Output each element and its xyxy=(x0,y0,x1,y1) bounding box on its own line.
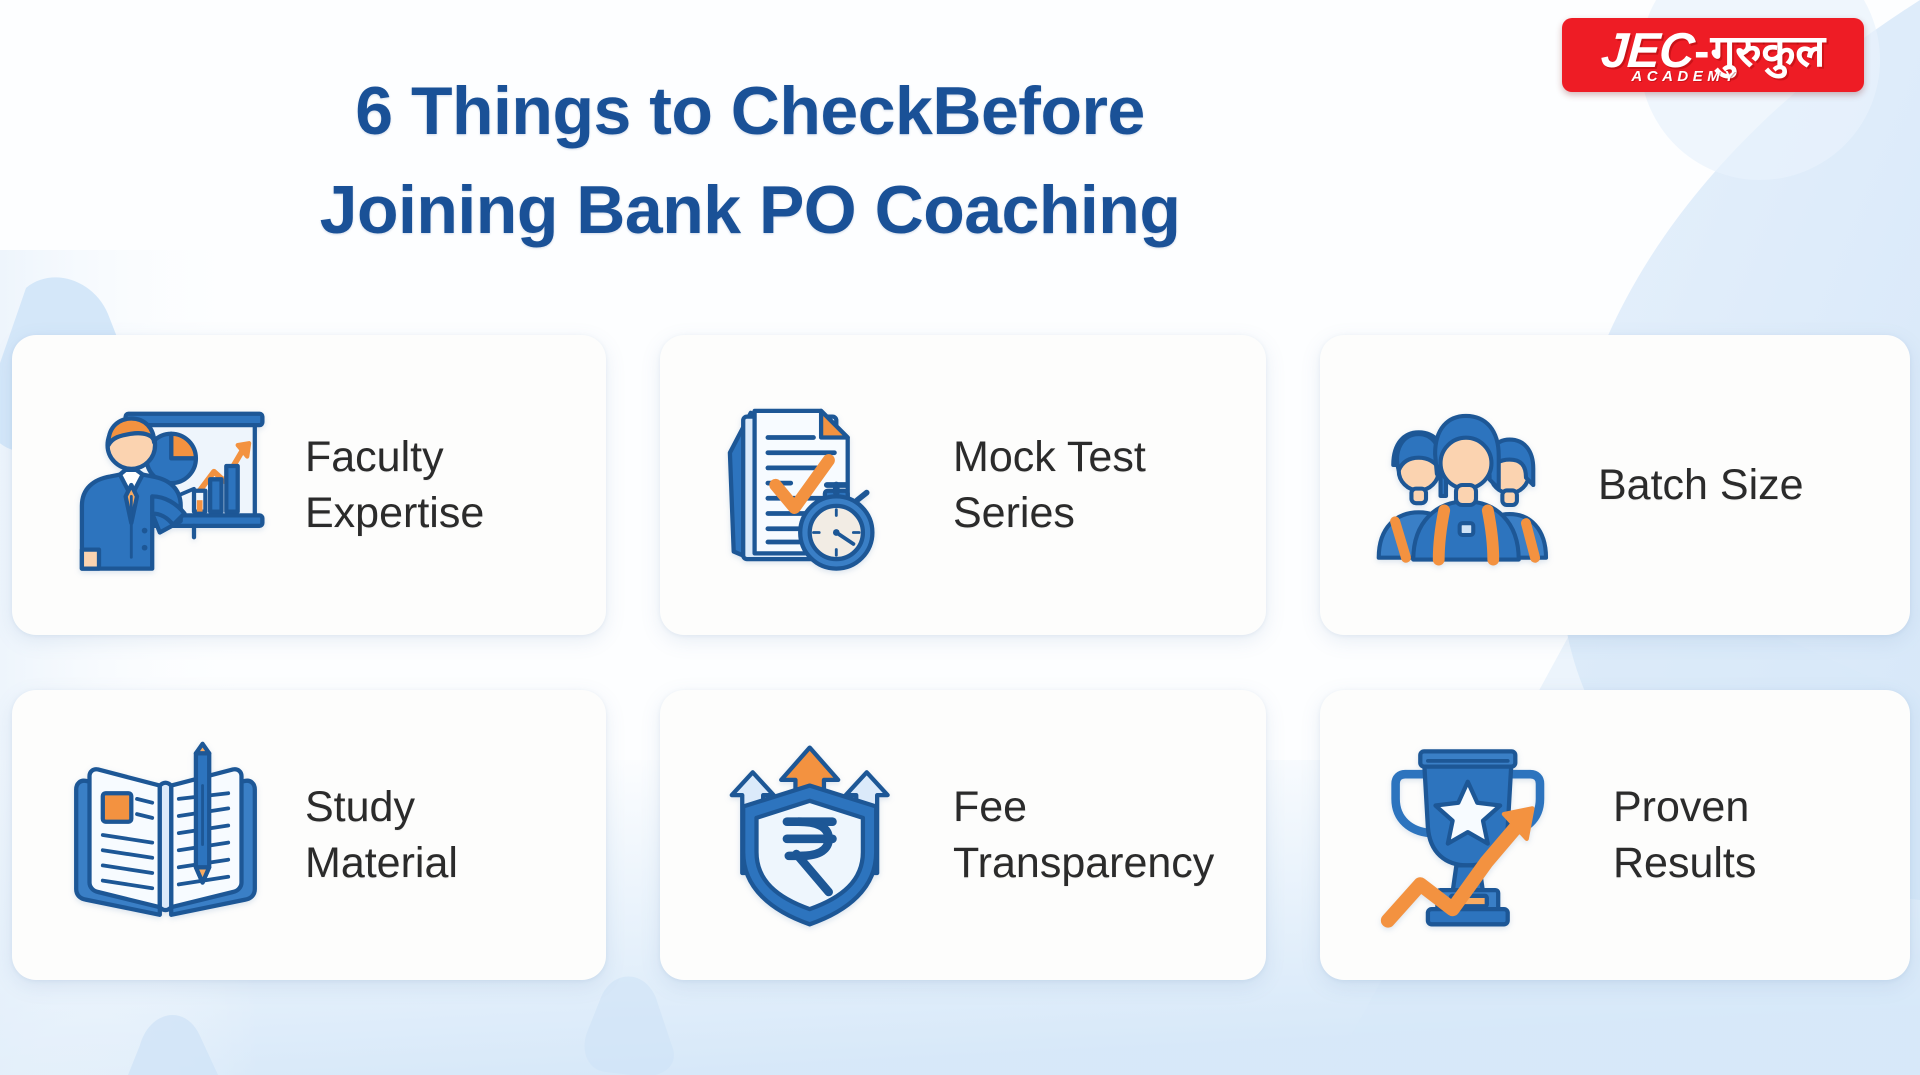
feature-card-label: Fee Transparency xyxy=(953,779,1214,891)
feature-card-fee-transparency[interactable]: Fee Transparency xyxy=(660,690,1266,980)
feature-card-label: Proven Results xyxy=(1613,779,1756,891)
feature-card-label: Study Material xyxy=(305,779,458,891)
feature-card-faculty-expertise[interactable]: Faculty Expertise xyxy=(12,335,606,635)
feature-card-label: Mock Test Series xyxy=(953,429,1146,541)
feature-card-label: Batch Size xyxy=(1598,457,1804,513)
page-title-line-2: Joining Bank PO Coaching xyxy=(0,161,1500,260)
students-group-icon xyxy=(1366,390,1566,580)
teacher-presentation-icon xyxy=(58,390,273,580)
logo-content: JEC - गुरुकुल ACADEMY xyxy=(1562,18,1864,92)
page-title: 6 Things to CheckBefore Joining Bank PO … xyxy=(0,62,1500,260)
feature-card-batch-size[interactable]: Batch Size xyxy=(1320,335,1910,635)
brand-logo[interactable]: JEC - गुरुकुल ACADEMY xyxy=(1562,18,1864,92)
document-stopwatch-icon xyxy=(706,390,921,580)
feature-card-label: Faculty Expertise xyxy=(305,429,484,541)
logo-academy-text: ACADEMY xyxy=(1631,68,1738,85)
feature-card-mock-test-series[interactable]: Mock Test Series xyxy=(660,335,1266,635)
open-book-pencil-icon xyxy=(58,740,273,930)
shield-rupee-arrows-icon xyxy=(706,740,921,930)
trophy-growth-arrow-icon xyxy=(1366,740,1581,930)
feature-card-proven-results[interactable]: Proven Results xyxy=(1320,690,1910,980)
page-title-line-1: 6 Things to CheckBefore xyxy=(0,62,1500,161)
feature-card-study-material[interactable]: Study Material xyxy=(12,690,606,980)
